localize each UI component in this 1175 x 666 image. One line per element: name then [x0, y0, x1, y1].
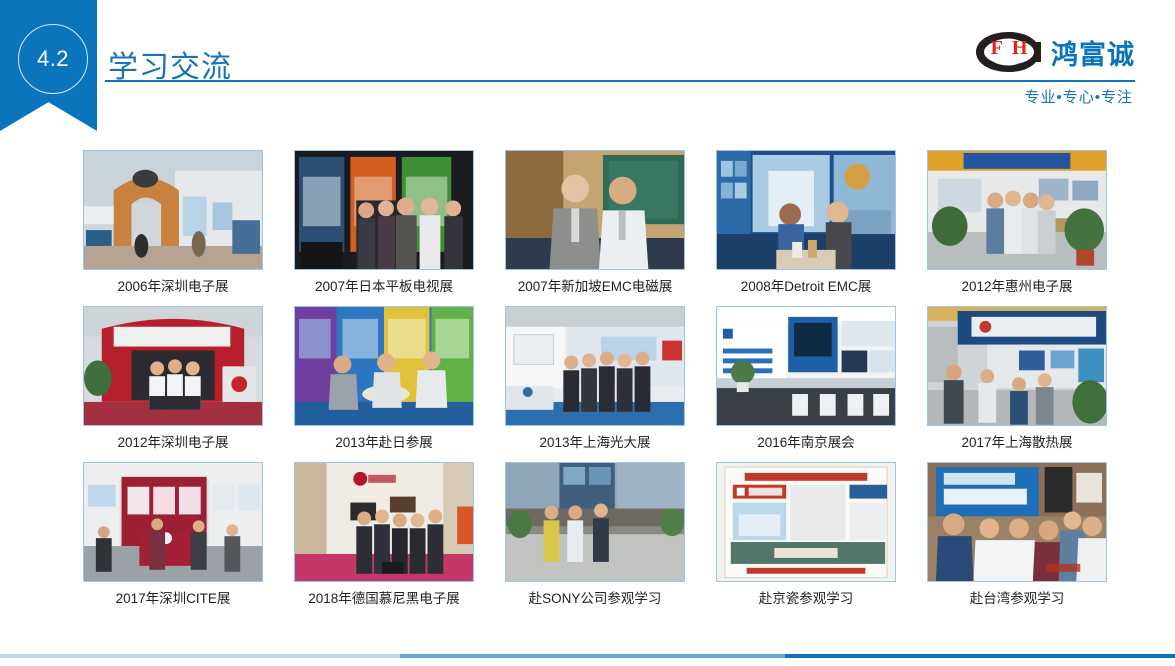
photo-thumbnail[interactable] — [294, 462, 474, 582]
gallery-item[interactable]: 2006年深圳电子展 — [75, 150, 271, 296]
gallery-row: 2017年深圳CITE展 — [75, 462, 1115, 608]
gallery-row: 2012年深圳电子展 — [75, 306, 1115, 452]
footer-accent-bar — [0, 654, 1175, 658]
logo-letters: F H — [973, 26, 1045, 70]
photo-caption: 2007年日本平板电视展 — [315, 278, 453, 296]
photo-caption: 2006年深圳电子展 — [117, 278, 228, 296]
gallery-item[interactable]: 2016年南京展会 — [708, 306, 904, 452]
photo-thumbnail[interactable] — [83, 462, 263, 582]
logo-letter-f: F — [991, 37, 1003, 60]
gallery-row: 2006年深圳电子展 — [75, 150, 1115, 296]
section-number: 4.2 — [18, 24, 88, 94]
gallery-item[interactable]: 2007年新加坡EMC电磁展 — [497, 150, 693, 296]
gallery-item[interactable]: 2013年赴日参展 — [286, 306, 482, 452]
photo-caption: 2008年Detroit EMC展 — [741, 278, 872, 296]
gallery-item[interactable]: 2013年上海光大展 — [497, 306, 693, 452]
photo-thumbnail[interactable] — [505, 462, 685, 582]
photo-thumbnail[interactable] — [294, 150, 474, 270]
gallery-item[interactable]: 赴京瓷参观学习 — [708, 462, 904, 608]
footer-segment-dark — [785, 654, 1175, 658]
gallery-item[interactable]: 2018年德国慕尼黑电子展 — [286, 462, 482, 608]
photo-caption: 2007年新加坡EMC电磁展 — [518, 278, 673, 296]
photo-thumbnail[interactable] — [83, 306, 263, 426]
photo-thumbnail[interactable] — [716, 150, 896, 270]
photo-caption: 赴京瓷参观学习 — [759, 590, 854, 608]
photo-thumbnail[interactable] — [927, 150, 1107, 270]
photo-thumbnail[interactable] — [83, 150, 263, 270]
photo-thumbnail[interactable] — [927, 462, 1107, 582]
photo-caption: 2018年德国慕尼黑电子展 — [308, 590, 460, 608]
photo-caption: 2013年上海光大展 — [539, 434, 650, 452]
photo-caption: 2013年赴日参展 — [335, 434, 433, 452]
gallery-item[interactable]: 2007年日本平板电视展 — [286, 150, 482, 296]
photo-caption: 2017年深圳CITE展 — [116, 590, 231, 608]
photo-thumbnail[interactable] — [505, 306, 685, 426]
gallery-item[interactable]: 2017年深圳CITE展 — [75, 462, 271, 608]
gallery-item[interactable]: 2017年上海散热展 — [919, 306, 1115, 452]
photo-caption: 2012年深圳电子展 — [117, 434, 228, 452]
photo-caption: 2017年上海散热展 — [961, 434, 1072, 452]
photo-thumbnail[interactable] — [505, 150, 685, 270]
gallery-item[interactable]: 2012年惠州电子展 — [919, 150, 1115, 296]
photo-thumbnail[interactable] — [927, 306, 1107, 426]
page-header: 4.2 学习交流 F H 鸿富诚 专业•专心•专注 — [0, 0, 1175, 140]
photo-thumbnail[interactable] — [716, 462, 896, 582]
photo-caption: 赴SONY公司参观学习 — [529, 590, 662, 608]
photo-caption: 2012年惠州电子展 — [961, 278, 1072, 296]
photo-caption: 2016年南京展会 — [757, 434, 855, 452]
logo-letter-h: H — [1012, 37, 1028, 60]
footer-segment-mid — [400, 654, 785, 658]
footer-segment-light — [0, 654, 400, 658]
header-divider-line — [105, 80, 1135, 82]
logo-tagline: 专业•专心•专注 — [1024, 86, 1133, 107]
gallery-item[interactable]: 2008年Detroit EMC展 — [708, 150, 904, 296]
logo-company-name: 鸿富诚 — [1051, 33, 1135, 72]
gallery-item[interactable]: 赴台湾参观学习 — [919, 462, 1115, 608]
photo-gallery: 2006年深圳电子展 — [75, 150, 1115, 608]
photo-thumbnail[interactable] — [294, 306, 474, 426]
photo-caption: 赴台湾参观学习 — [970, 590, 1065, 608]
gallery-item[interactable]: 2012年深圳电子展 — [75, 306, 271, 452]
photo-thumbnail[interactable] — [716, 306, 896, 426]
company-logo: F H 鸿富诚 — [973, 26, 1135, 78]
gallery-item[interactable]: 赴SONY公司参观学习 — [497, 462, 693, 608]
